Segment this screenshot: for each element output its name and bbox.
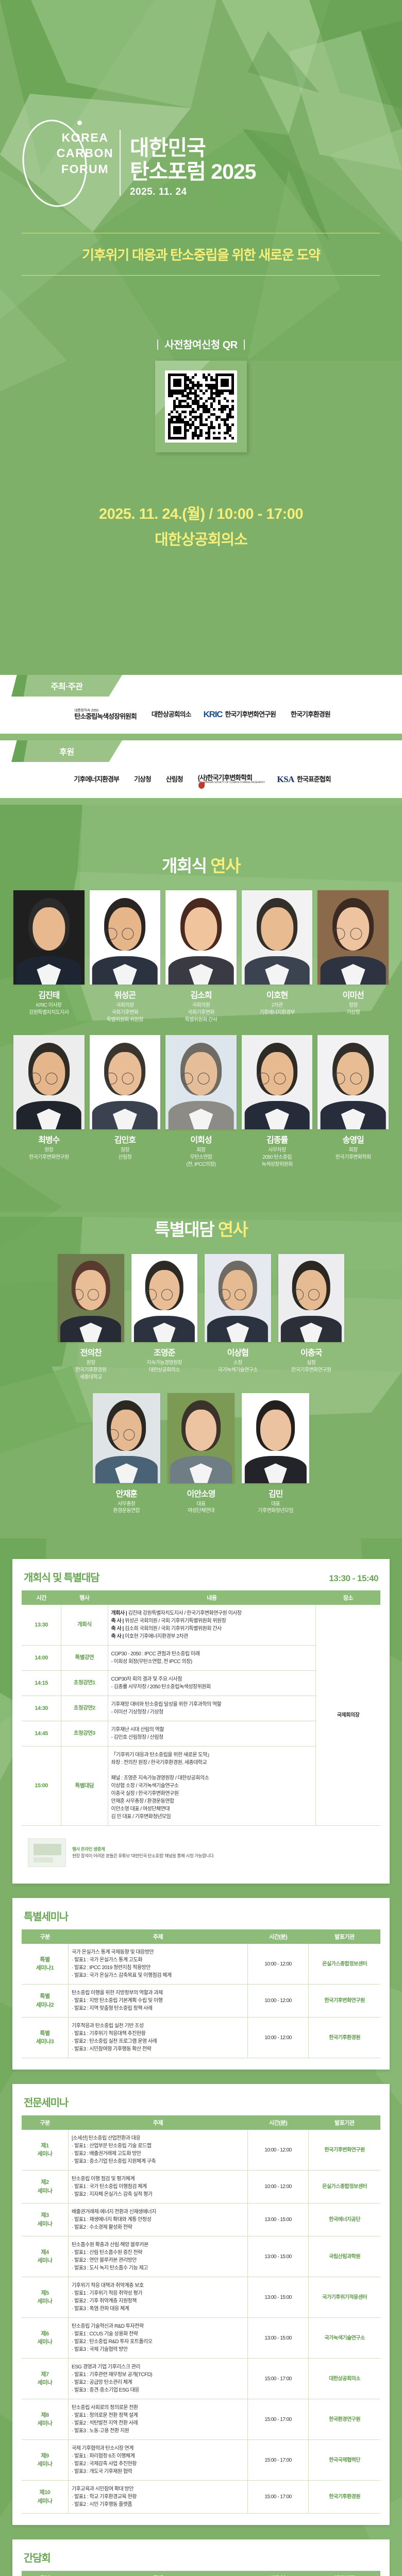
program-card-header: 특별세미나 <box>22 1908 380 1929</box>
sponsor-logo-name: 기후에너지환경부 <box>74 776 119 783</box>
program-column-header: 구분 <box>22 1929 68 1944</box>
speaker-card: 송영일회장한국기후변화학회 <box>317 1035 389 1168</box>
program-table-header-row: 구분주제시간(분)발표기관 <box>22 1929 380 1944</box>
program-table-row: 제1세미나[소세션] 탄소중립 산업전환과 대응· 발표1 : 산업부문 탄소중… <box>22 2130 380 2171</box>
program-card-title: 개회식 및 특별대담 <box>24 1569 99 1584</box>
forum-logo: KOREA CARBON FORUM 대한민국 탄소포럼 2025 2025. … <box>22 0 380 200</box>
program-org-cell: 온실가스종합정보센터 <box>309 1944 380 1985</box>
program-event-cell: 개회식 <box>61 1605 108 1646</box>
speaker-role: 국회의원국회기후변화특별위원회 위원장 <box>90 1002 161 1023</box>
opening-speakers-title: 개회식 연사 <box>13 805 389 890</box>
program-org-cell: 한국기후환경원 <box>309 2018 380 2058</box>
logo-en-line1: KOREA <box>46 130 124 145</box>
sponsor-logo: KRIC한국기후변화연구원 <box>204 709 276 720</box>
program-time-cell: 14:00 <box>22 1646 61 1671</box>
sponsor-band-2: 후원기후에너지환경부기상청산림청(사)한국기후변화학회THE KOREAN SO… <box>0 740 402 798</box>
logo-ko-line1: 대한민국 <box>130 137 256 160</box>
sponsor-logo-tagline: THE KOREAN SOCIETY OF CLIMATE CHANGE RES… <box>198 782 265 785</box>
eyeglasses-icon <box>257 1073 297 1084</box>
speaker-name: 김인호 <box>90 1133 161 1145</box>
program-content-cell: 「기후위기 대응과 탄소중립을 위한 새로운 도약」좌장 : 전의찬 원장 / … <box>108 1747 316 1826</box>
program-column-header: 시간(분) <box>247 2571 308 2576</box>
speaker-portrait <box>317 1035 389 1129</box>
program-org-cell: 대한상공회의소 <box>309 2359 380 2399</box>
speakers-section: 개회식 연사 김진태KRIC 이사장강원특별자치도지사위성곤국회의원국회기후변화… <box>0 805 402 1538</box>
sponsor-logo-text: 대한상공회의소 <box>152 711 191 718</box>
sponsor-logo-name: 한국기후변화연구원 <box>225 711 276 718</box>
program-column-header: 시간 <box>22 1590 61 1605</box>
speaker-portrait <box>13 890 85 985</box>
sponsor-logo: 대통령직속 2050탄소중립녹색성장위원회 <box>72 709 137 720</box>
program-org-cell: 국가녹색기술연구소 <box>309 2318 380 2359</box>
program-org-cell: 한국기후변화연구원 <box>309 1985 380 2018</box>
program-time-cell: 13:30 <box>22 1605 61 1646</box>
speaker-portrait <box>90 1035 161 1129</box>
speaker-portrait <box>90 890 161 985</box>
sponsor-band-tag: 후원 <box>11 740 122 762</box>
program-content-cell: 기후재난 시대 산림의 역할- 김인호 산림청장 / 산림청 <box>108 1721 316 1747</box>
program-note-body: 현장 참석이 어려운 분들은 유튜브 '대한민국 탄소포럼' 채널을 통해 시청… <box>72 1853 214 1858</box>
program-column-header: 주제 <box>68 2115 247 2130</box>
program-duration-cell: 15:00 - 17:00 <box>247 2440 308 2481</box>
speaker-portrait <box>93 1393 160 1483</box>
sponsor-logo: 한국기후환경원 <box>288 711 330 718</box>
program-content-cell: 탄소중립 이행 점검 및 평가체계· 발표1 : 국가 탄소중립 이행점검 체계… <box>68 2171 247 2204</box>
program-content-cell: COP30 - 2050 : IPCC 관점과 탄소중립 미래- 이회성 회장(… <box>108 1646 316 1671</box>
sponsor-logo-text: 한국기후환경원 <box>291 711 330 718</box>
program-content-cell: 기후재앙 대비와 탄소중립 달성을 위한 기후과학의 역할- 이미선 기상청장 … <box>108 1696 316 1721</box>
qr-label-text: 사전참여신청 QR <box>164 340 237 351</box>
sponsor-logo-text: 산림청 <box>166 776 183 783</box>
speaker-name: 이회성 <box>165 1133 237 1145</box>
speaker-portrait <box>131 1254 198 1342</box>
opening-speakers-row-2: 최병수원장한국기후변화연구원김인호청장산림청이회성회장무탄소연합(전, IPCC… <box>13 1035 389 1168</box>
qr-label-bar-right <box>244 340 245 350</box>
speaker-card: 안재훈사무총장환경운동연합 <box>93 1393 160 1515</box>
speaker-portrait <box>242 1393 309 1483</box>
sponsor-logo-text: 한국기후변화연구원 <box>225 711 276 718</box>
speaker-name: 이상협 <box>205 1346 271 1358</box>
program-content-cell: ESG 경영과 기업 기후리스크 관리· 발표1 : 기후관련 재무정보 공개(… <box>68 2359 247 2399</box>
program-column-header: 발표기관 <box>309 1929 380 1944</box>
program-duration-cell: 10:00 - 12:00 <box>247 2171 308 2204</box>
program-duration-cell: 15:00 - 17:00 <box>247 2399 308 2440</box>
program-time-cell: 특별세미나2 <box>22 1985 68 2018</box>
speaker-name: 이호현 <box>242 988 313 1001</box>
sponsor-logo-row: 대통령직속 2050탄소중립녹색성장위원회대한상공회의소KRIC한국기후변화연구… <box>0 697 402 734</box>
sponsor-logo-text: 기상청 <box>134 776 151 783</box>
program-content-cell: COP30차 회의 결과 및 주요 시사점- 김종률 사무차장 / 2050 탄… <box>108 1671 316 1696</box>
speaker-role: 원장한국기후변화연구원 <box>13 1147 85 1161</box>
program-table-header-row: 구분주제시간(분)발표기관 <box>22 2115 380 2130</box>
program-content-cell: 국가 온실가스 통계 국제동향 및 대응방안· 발표1 : 국가 온실가스 통계… <box>68 1944 247 1985</box>
speaker-role: 실장한국기후변화연구원 <box>278 1360 345 1374</box>
speaker-portrait <box>242 1035 313 1129</box>
program-card-header: 개회식 및 특별대담13:30 - 15:40 <box>22 1569 380 1590</box>
sponsor-band-1: 주최·주관대통령직속 2050탄소중립녹색성장위원회대한상공회의소KRIC한국기… <box>0 675 402 734</box>
program-content-cell: 탄소흡수원 확충과 산림·해양 블루카본· 발표1 : 산림 탄소흡수원 증진 … <box>68 2236 247 2277</box>
program-table-row: 13:30개회식개회사 | 김진태 강원특별자치도지사 / 한국기후변화연구원 … <box>22 1605 380 1646</box>
program-column-header: 내용 <box>108 1590 316 1605</box>
speaker-name: 이충국 <box>278 1346 345 1358</box>
qr-card[interactable] <box>155 361 247 452</box>
program-table-row: 특별세미나1국가 온실가스 통계 국제동향 및 대응방안· 발표1 : 국가 온… <box>22 1944 380 1985</box>
program-duration-cell: 13:00 - 15:00 <box>247 2236 308 2277</box>
program-duration-cell: 13:00 - 15:00 <box>247 2318 308 2359</box>
speaker-name: 김소희 <box>165 988 237 1001</box>
slogan-plain: 기후위기 대응과 탄소중립을 위한 <box>82 247 258 263</box>
program-time-cell: 제10세미나 <box>22 2481 68 2514</box>
sponsor-logo-name: 대한상공회의소 <box>152 711 191 718</box>
program-duration-cell: 10:00 - 12:00 <box>247 2018 308 2058</box>
program-org-cell: 한국에너지공단 <box>309 2204 380 2236</box>
program-duration-cell: 10:00 - 12:00 <box>247 1985 308 2018</box>
program-title-b: 특별대담 <box>64 1572 99 1584</box>
speaker-card: 전의찬원장한국기후환경원세종대학교 <box>58 1254 124 1381</box>
program-column-header: 시간(분) <box>247 2115 308 2130</box>
panel-title-yellow: 연사 <box>218 1220 248 1239</box>
program-table-row: 제10세미나기후교육과 시민참여 확대 방안· 발표1 : 학교 기후환경교육 … <box>22 2481 380 2514</box>
speaker-role: 소장국가녹색기술연구소 <box>205 1360 271 1374</box>
program-duration-cell: 15:00 - 17:00 <box>247 2359 308 2399</box>
program-table-row: 제5세미나기후위기 적응 대책과 취약계층 보호· 발표1 : 기후위기 적응 … <box>22 2277 380 2318</box>
speaker-role: KRIC 이사장강원특별자치도지사 <box>13 1002 85 1016</box>
speaker-name: 안재훈 <box>93 1487 160 1499</box>
program-time-cell: 특별세미나1 <box>22 1944 68 1985</box>
sponsor-logo-name: 산림청 <box>166 776 183 783</box>
speaker-role: 사무총장환경운동연합 <box>93 1501 160 1515</box>
eyeglasses-icon <box>105 928 145 940</box>
sponsor-logo: 산림청 <box>163 776 183 783</box>
program-card-3: 전문세미나구분주제시간(분)발표기관제1세미나[소세션] 탄소중립 산업전환과 … <box>12 2084 390 2525</box>
eyeglasses-icon <box>293 1289 330 1300</box>
sponsor-logo-text: (사)한국기후변화학회THE KOREAN SOCIETY OF CLIMATE… <box>198 774 265 785</box>
program-content-cell: 국제 기후협력과 탄소시장 연계· 발표1 : 파리협정 6조 이행체계· 발표… <box>68 2440 247 2481</box>
program-card-header: 전문세미나 <box>22 2094 380 2115</box>
program-table-row: 제9세미나국제 기후협력과 탄소시장 연계· 발표1 : 파리협정 6조 이행체… <box>22 2440 380 2481</box>
speaker-name: 김진태 <box>13 988 85 1001</box>
program-event-cell: 초청강연3 <box>61 1721 108 1747</box>
speaker-name: 송영일 <box>317 1133 389 1145</box>
program-content-cell: 탄소중립 이행을 위한 지방정부의 역할과 과제· 발표1 : 지방 탄소중립 … <box>68 1985 247 2018</box>
speaker-card: 이미선청장기상청 <box>317 890 389 1024</box>
speaker-name: 최병수 <box>13 1133 85 1145</box>
program-note-title: 행사 온라인 생중계 <box>72 1846 105 1852</box>
program-content-cell: 개회사 | 김진태 강원특별자치도지사 / 한국기후변화연구원 이사장축 사 |… <box>108 1605 316 1646</box>
sponsor-logo-name: 한국기후환경원 <box>291 711 330 718</box>
speaker-name: 조영준 <box>131 1346 198 1358</box>
speaker-portrait <box>242 890 313 985</box>
eyeglasses-icon <box>181 1073 221 1084</box>
program-event-cell: 초청강연2 <box>61 1696 108 1721</box>
logo-en-line3: FORUM <box>46 161 124 177</box>
panel-title-white: 특별대담 <box>155 1220 218 1239</box>
program-time-cell: 15:00 <box>22 1747 61 1826</box>
sponsor-logo-name: 한국표준협회 <box>297 776 331 783</box>
program-table-row: 제7세미나ESG 경영과 기업 기후리스크 관리· 발표1 : 기후관련 재무정… <box>22 2359 380 2399</box>
speaker-card: 최병수원장한국기후변화연구원 <box>13 1035 85 1168</box>
program-time-cell: 제2세미나 <box>22 2171 68 2204</box>
program-duration-cell: 13:00 - 15:00 <box>247 2277 308 2318</box>
eyeglasses-icon <box>105 1073 145 1084</box>
hero-banner: KOREA CARBON FORUM 대한민국 탄소포럼 2025 2025. … <box>0 0 402 675</box>
speaker-card: 이상협소장국가녹색기술연구소 <box>205 1254 271 1381</box>
program-title-a: 개회식 <box>24 1572 51 1584</box>
speaker-portrait <box>165 1035 237 1129</box>
speaker-name: 전의찬 <box>58 1346 124 1358</box>
eyeglasses-icon <box>333 1073 373 1084</box>
program-org-cell: 국가기후위기적응센터 <box>309 2277 380 2318</box>
forum-logo-mark: KOREA CARBON FORUM <box>22 117 120 200</box>
speaker-role: 사무차장2050 탄소중립녹색성장위원회 <box>242 1147 313 1168</box>
sponsor-logo: 기후에너지환경부 <box>71 776 119 783</box>
eyeglasses-icon <box>146 1289 183 1300</box>
program-table-row: 특별세미나3기후적응과 탄소중립 실천 기반 조성· 발표1 : 기후위기 적응… <box>22 2018 380 2058</box>
speaker-role: 2차관기후에너지환경부 <box>242 1002 313 1016</box>
program-column-header: 발표기관 <box>309 2571 380 2576</box>
speaker-card: 김소희국회의원국회기후변화특별위원회 간사 <box>165 890 237 1024</box>
program-time-cell: 제4세미나 <box>22 2236 68 2277</box>
program-org-cell: 온실가스종합정보센터 <box>309 2171 380 2204</box>
program-org-cell: 한국국제협력단 <box>309 2440 380 2481</box>
speaker-portrait <box>58 1254 124 1342</box>
sponsor-band-tag-label: 후원 <box>59 745 74 757</box>
speaker-role: 국회의원국회기후변화특별위원회 간사 <box>165 1002 237 1023</box>
speaker-role: 원장한국기후환경원세종대학교 <box>58 1360 124 1381</box>
speaker-role: 청장산림청 <box>90 1147 161 1161</box>
program-table-header-row: 시간행사내용장소 <box>22 1590 380 1605</box>
program-content-cell: [소세션] 탄소중립 산업전환과 대응· 발표1 : 산업부문 탄소중립 기술 … <box>68 2130 247 2171</box>
speaker-name: 김민 <box>242 1487 309 1499</box>
program-table-row: 제6세미나탄소중립 기술혁신과 R&D 투자전략· 발표1 : CCUS 기술 … <box>22 2318 380 2359</box>
program-duration-cell: 13:00 - 15:00 <box>247 2204 308 2236</box>
kric-wordmark-icon: KRIC <box>204 709 223 719</box>
event-when-where: 2025. 11. 24.(월) / 10:00 - 17:00 대한상공회의소 <box>22 502 380 549</box>
event-date: 2025. 11. 24.(월) / 10:00 - 17:00 <box>22 502 380 523</box>
program-time-cell: 특별세미나3 <box>22 2018 68 2058</box>
program-table-header-row: 구분주제시간(분)발표기관 <box>22 2571 380 2576</box>
program-column-header: 주제 <box>68 1929 247 1944</box>
sponsor-logo-row: 기후에너지환경부기상청산림청(사)한국기후변화학회THE KOREAN SOCI… <box>0 762 402 798</box>
program-column-header: 발표기관 <box>309 2115 380 2130</box>
eyeglasses-icon <box>72 1289 109 1300</box>
speaker-portrait <box>165 890 237 985</box>
logo-ko-line2: 탄소포럼 2025 <box>130 160 256 184</box>
program-time-cell: 14:30 <box>22 1696 61 1721</box>
program-card-title: 간담회 <box>24 2550 51 2565</box>
program-org-cell: 한국환경연구원 <box>309 2399 380 2440</box>
sponsor-logo-name: 기상청 <box>134 776 151 783</box>
program-time-cell: 14:15 <box>22 1671 61 1696</box>
program-title-a: 간담회 <box>24 2553 51 2564</box>
speaker-portrait <box>167 1393 235 1483</box>
speaker-card: 위성곤국회의원국회기후변화특별위원회 위원장 <box>90 890 161 1024</box>
program-time-cell: 제6세미나 <box>22 2318 68 2359</box>
event-venue: 대한상공회의소 <box>22 528 380 549</box>
speaker-role: 청장기상청 <box>317 1002 389 1016</box>
speaker-role: 지속가능경영원장대한상공회의소 <box>131 1360 198 1374</box>
program-org-cell: 한국기후환경원 <box>309 2481 380 2514</box>
program-column-header: 행사 <box>61 1590 108 1605</box>
speaker-card: 김인호청장산림청 <box>90 1035 161 1168</box>
sponsor-logo-name: 탄소중립녹색성장위원회 <box>74 713 137 720</box>
program-column-header: 주제 <box>68 2571 247 2576</box>
program-card-4: 간담회구분주제시간(분)발표기관간담회1탄소중립 이행 지방정부 협의체 간담회… <box>12 2539 390 2576</box>
program-content-cell: 탄소중립 사회로의 정의로운 전환· 발표1 : 정의로운 전환 정책 설계· … <box>68 2399 247 2440</box>
logo-date: 2025. 11. 24 <box>130 187 256 198</box>
program-card-header: 간담회 <box>22 2550 380 2571</box>
speaker-name: 위성곤 <box>90 988 161 1001</box>
program-table: 구분주제시간(분)발표기관제1세미나[소세션] 탄소중립 산업전환과 대응· 발… <box>22 2115 380 2514</box>
logo-en-line2: CARBON <box>46 145 124 161</box>
speaker-card: 조영준지속가능경영원장대한상공회의소 <box>131 1254 198 1381</box>
eyeglasses-icon <box>108 1429 145 1440</box>
speaker-name: 이안소영 <box>167 1487 235 1499</box>
program-place-cell: 국제회의장 <box>316 1605 380 1826</box>
sponsor-band-tag-label: 주최·주관 <box>51 680 83 692</box>
program-table-row: 특별세미나2탄소중립 이행을 위한 지방정부의 역할과 과제· 발표1 : 지방… <box>22 1985 380 2018</box>
program-note: 행사 온라인 생중계현장 참석이 어려운 분들은 유튜브 '대한민국 탄소포럼'… <box>22 1833 380 1872</box>
sponsor-band-separator <box>0 734 402 740</box>
speaker-role: 회장한국기후변화학회 <box>317 1147 389 1161</box>
program-card-2: 특별세미나구분주제시간(분)발표기관특별세미나1국가 온실가스 통계 국제동향 … <box>12 1898 390 2070</box>
sponsor-logo: 대한상공회의소 <box>149 711 191 718</box>
program-table-row: 제8세미나탄소중립 사회로의 정의로운 전환· 발표1 : 정의로운 전환 정책… <box>22 2399 380 2440</box>
program-column-header: 시간(분) <box>247 1929 308 1944</box>
eyeglasses-icon <box>29 1073 69 1084</box>
speaker-role: 대표여성단체연대 <box>167 1501 235 1515</box>
program-card-title: 특별세미나 <box>24 1908 68 1923</box>
speaker-role: 대표기후변화청년모임 <box>242 1501 309 1515</box>
eyeglasses-icon <box>219 1289 256 1300</box>
program-time-cell: 제1세미나 <box>22 2130 68 2171</box>
program-duration-cell: 10:00 - 12:00 <box>247 1944 308 1985</box>
panel-speakers-title: 특별대담 연사 <box>13 1168 389 1254</box>
opening-title-yellow: 연사 <box>210 856 240 875</box>
speaker-portrait <box>317 890 389 985</box>
slogan-bold: 새로운 도약 <box>258 247 320 263</box>
program-table-row: 제2세미나탄소중립 이행 점검 및 평가체계· 발표1 : 국가 탄소중립 이행… <box>22 2171 380 2204</box>
program-title-a: 전문세미나 <box>24 2097 68 2109</box>
speaker-portrait <box>278 1254 345 1342</box>
program-content-cell: 탄소중립 기술혁신과 R&D 투자전략· 발표1 : CCUS 기술 상용화 전… <box>68 2318 247 2359</box>
speaker-card: 이충국실장한국기후변화연구원 <box>278 1254 345 1381</box>
sponsor-logo: (사)한국기후변화학회THE KOREAN SOCIETY OF CLIMATE… <box>195 774 265 785</box>
sponsor-logo-text: 기후에너지환경부 <box>74 776 119 783</box>
program-event-cell: 특별대담 <box>61 1747 108 1826</box>
program-content-cell: 기후교육과 시민참여 확대 방안· 발표1 : 학교 기후환경교육 현황· 발표… <box>68 2481 247 2514</box>
sponsor-logo: KSA한국표준협회 <box>277 774 330 785</box>
program-title-a: 특별세미나 <box>24 1911 68 1923</box>
program-card-time: 13:30 - 15:40 <box>329 1573 378 1584</box>
program-org-cell: 국립산림과학원 <box>309 2236 380 2277</box>
speaker-card: 김진태KRIC 이사장강원특별자치도지사 <box>13 890 85 1024</box>
program-content-cell: 기후적응과 탄소중립 실천 기반 조성· 발표1 : 기후위기 적응대책 추진현… <box>68 2018 247 2058</box>
sponsor-bands: 주최·주관대통령직속 2050탄소중립녹색성장위원회대한상공회의소KRIC한국기… <box>0 675 402 805</box>
program-content-cell: 배출권거래제·에너지 전환과 신재생에너지· 발표1 : 재생에너지 확대와 계… <box>68 2204 247 2236</box>
speaker-name: 김종률 <box>242 1133 313 1145</box>
program-title-mid: 및 <box>51 1572 64 1584</box>
program-duration-cell: 15:00 - 17:00 <box>247 2481 308 2514</box>
qr-label: 사전참여신청 QR <box>22 336 380 351</box>
program-column-header: 장소 <box>316 1590 380 1605</box>
program-event-cell: 초청강연1 <box>61 1671 108 1696</box>
qr-code-image[interactable] <box>165 370 237 443</box>
panel-speakers-row-1: 전의찬원장한국기후환경원세종대학교조영준지속가능경영원장대한상공회의소이상협소장… <box>58 1254 344 1381</box>
qr-code-modules <box>168 374 234 439</box>
program-column-header: 구분 <box>22 2115 68 2130</box>
broadcast-thumbnail-icon <box>28 1838 66 1867</box>
eyeglasses-icon <box>333 928 373 940</box>
program-time-cell: 14:45 <box>22 1721 61 1747</box>
program-column-header: 구분 <box>22 2571 68 2576</box>
panel-speakers-row-2: 안재훈사무총장환경운동연합이안소영대표여성단체연대김민대표기후변화청년모임 <box>93 1393 309 1515</box>
program-section: 개회식 및 특별대담13:30 - 15:40시간행사내용장소13:30개회식개… <box>0 1538 402 2576</box>
program-time-cell: 제7세미나 <box>22 2359 68 2399</box>
speaker-card: 김종률사무차장2050 탄소중립녹색성장위원회 <box>242 1035 313 1168</box>
program-table-row: 제3세미나배출권거래제·에너지 전환과 신재생에너지· 발표1 : 재생에너지 … <box>22 2204 380 2236</box>
sponsor-band-separator <box>0 798 402 805</box>
sponsor-band-tag: 주최·주관 <box>11 675 122 697</box>
speaker-portrait <box>205 1254 271 1342</box>
program-event-cell: 특별강연 <box>61 1646 108 1671</box>
program-table: 시간행사내용장소13:30개회식개회사 | 김진태 강원특별자치도지사 / 한국… <box>22 1590 380 1826</box>
speaker-card: 이호현2차관기후에너지환경부 <box>242 890 313 1024</box>
opening-title-white: 개회식 <box>162 856 210 875</box>
program-duration-cell: 10:00 - 12:00 <box>247 2130 308 2171</box>
program-time-cell: 제8세미나 <box>22 2399 68 2440</box>
speaker-card: 김민대표기후변화청년모임 <box>242 1393 309 1515</box>
program-time-cell: 제9세미나 <box>22 2440 68 2481</box>
ksa-wordmark-icon: KSA <box>277 774 294 784</box>
program-card-title: 전문세미나 <box>24 2094 68 2109</box>
program-time-cell: 제3세미나 <box>22 2204 68 2236</box>
program-org-cell: 한국기후변화연구원 <box>309 2130 380 2171</box>
program-card-1: 개회식 및 특별대담13:30 - 15:40시간행사내용장소13:30개회식개… <box>12 1559 390 1884</box>
speaker-role: 회장무탄소연합(전, IPCC의장) <box>165 1147 237 1168</box>
program-table: 구분주제시간(분)발표기관간담회1탄소중립 이행 지방정부 협의체 간담회· 지… <box>22 2571 380 2576</box>
program-table-row: 제4세미나탄소흡수원 확충과 산림·해양 블루카본· 발표1 : 산림 탄소흡수… <box>22 2236 380 2277</box>
orbit-dot-icon <box>77 121 82 125</box>
speaker-portrait <box>13 1035 85 1129</box>
sponsor-logo: 기상청 <box>131 776 151 783</box>
sponsor-logo-text: 한국표준협회 <box>297 776 331 783</box>
sponsor-logo-text: 대통령직속 2050탄소중립녹색성장위원회 <box>74 709 137 720</box>
program-content-cell: 기후위기 적응 대책과 취약계층 보호· 발표1 : 기후위기 적응 취약성 평… <box>68 2277 247 2318</box>
program-time-cell: 제5세미나 <box>22 2277 68 2318</box>
slogan-block: 기후위기 대응과 탄소중립을 위한 새로운 도약 <box>22 233 380 276</box>
speaker-card: 이회성회장무탄소연합(전, IPCC의장) <box>165 1035 237 1168</box>
sponsor-logo-name: (사)한국기후변화학회 <box>198 774 265 782</box>
speaker-name: 이미선 <box>317 988 389 1001</box>
qr-label-bar-left <box>157 340 158 350</box>
program-table: 구분주제시간(분)발표기관특별세미나1국가 온실가스 통계 국제동향 및 대응방… <box>22 1929 380 2058</box>
opening-speakers-row-1: 김진태KRIC 이사장강원특별자치도지사위성곤국회의원국회기후변화특별위원회 위… <box>13 890 389 1024</box>
speaker-card: 이안소영대표여성단체연대 <box>167 1393 235 1515</box>
